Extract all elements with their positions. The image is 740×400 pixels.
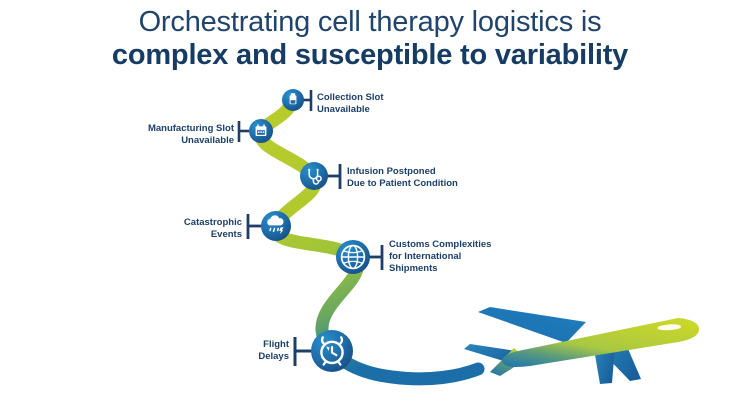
node-flight-delays[interactable] xyxy=(311,330,353,372)
airplane-illustration xyxy=(464,307,699,384)
connector-flight-delays xyxy=(294,337,313,366)
node-catastrophic-events[interactable] xyxy=(261,211,291,241)
infographic-canvas: Orchestrating cell therapy logistics is … xyxy=(0,0,740,400)
label-manufacturing-slot: Manufacturing Slot Unavailable xyxy=(110,123,234,147)
node-collection-slot[interactable] xyxy=(282,89,304,111)
node-manufacturing-slot[interactable] xyxy=(249,119,273,143)
connector-manufacturing-slot xyxy=(238,121,249,142)
node-infusion-postponed[interactable] xyxy=(300,162,328,190)
connector-catastrophic-events xyxy=(247,214,263,239)
label-catastrophic-events: Catastrophic Events xyxy=(150,217,242,241)
label-infusion-postponed: Infusion Postponed Due to Patient Condit… xyxy=(347,166,497,190)
label-collection-slot: Collection Slot Unavailable xyxy=(317,92,437,116)
label-customs-complexities: Customs Complexities for International S… xyxy=(389,239,529,275)
label-flight-delays: Flight Delays xyxy=(212,339,289,363)
journey-diagram xyxy=(0,0,740,400)
node-customs-complexities[interactable] xyxy=(336,240,370,274)
